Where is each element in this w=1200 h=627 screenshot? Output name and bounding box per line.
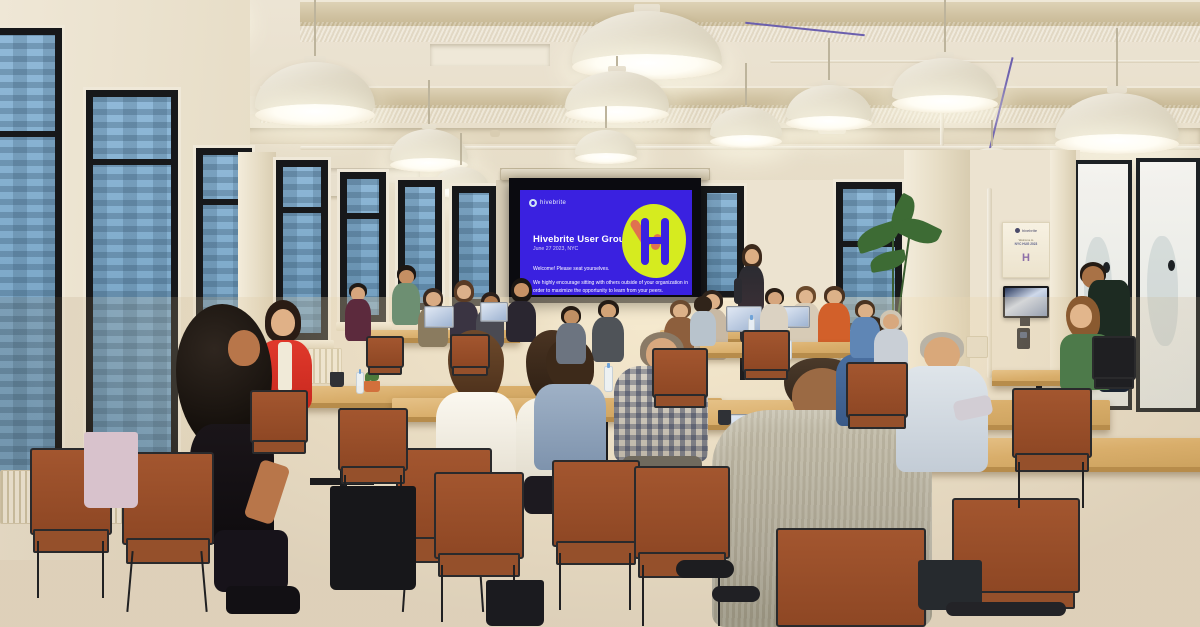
chair[interactable] xyxy=(250,390,308,482)
tote-bag xyxy=(84,432,138,508)
chair[interactable] xyxy=(652,348,708,434)
hexagon-logo-icon xyxy=(529,199,537,207)
chair[interactable] xyxy=(1012,388,1092,508)
attendee xyxy=(896,332,988,472)
tote-bag xyxy=(486,580,544,626)
slide-subtitle: June 27 2023, NYC xyxy=(533,246,578,252)
ceiling-texture xyxy=(300,22,1200,42)
attendee xyxy=(874,310,908,370)
open-laptop[interactable] xyxy=(726,306,762,332)
chair[interactable] xyxy=(742,330,790,402)
hivebrite-h-logo-icon xyxy=(622,204,686,278)
projection-screen: hivebrite Hivebrite User Group June 27 2… xyxy=(509,178,701,303)
tote-bag xyxy=(330,486,416,590)
chair[interactable] xyxy=(366,336,404,392)
wall-poster: hivebrite Welcome to NYC HUG 2023 H xyxy=(1002,222,1050,278)
chair[interactable] xyxy=(776,528,926,627)
chair[interactable] xyxy=(552,460,640,610)
slide-title: Hivebrite User Group xyxy=(533,234,631,245)
chair[interactable] xyxy=(450,334,490,394)
poster-room-code: NYC HUG 2023 xyxy=(1003,242,1049,246)
hexagon-logo-icon xyxy=(1015,228,1020,233)
floor-cable-cover xyxy=(946,602,1066,616)
water-bottle xyxy=(356,372,364,394)
open-laptop[interactable] xyxy=(480,302,508,322)
coffee-cup xyxy=(330,372,344,387)
meeting-room-photo: hivebrite Hivebrite User Group June 27 2… xyxy=(0,0,1200,627)
attendee xyxy=(556,306,586,364)
presentation-slide: hivebrite Hivebrite User Group June 27 2… xyxy=(520,190,692,295)
chair[interactable] xyxy=(1092,336,1136,412)
ceiling-panel xyxy=(430,44,550,66)
chair[interactable] xyxy=(634,466,730,626)
shoe xyxy=(226,586,300,614)
poster-brand: hivebrite xyxy=(1022,228,1037,233)
floor-cable-cover xyxy=(712,586,760,602)
chair[interactable] xyxy=(846,362,908,458)
attendee xyxy=(345,283,371,341)
sprinkler-head xyxy=(490,130,500,137)
attendee xyxy=(690,296,716,346)
slide-body-line-2: We highly encourage sitting with others … xyxy=(533,280,692,295)
open-laptop[interactable] xyxy=(424,306,454,328)
attendee xyxy=(392,265,420,325)
brand-wordmark: hivebrite xyxy=(540,200,566,206)
poster-letter: H xyxy=(1003,252,1049,264)
door-handle[interactable] xyxy=(1168,260,1175,271)
slide-brand: hivebrite xyxy=(529,199,566,207)
ceiling-pipe xyxy=(770,60,1200,63)
floor-cable-cover xyxy=(676,560,734,578)
slide-body-line-1: Welcome! Please seat yourselves. xyxy=(533,266,609,272)
